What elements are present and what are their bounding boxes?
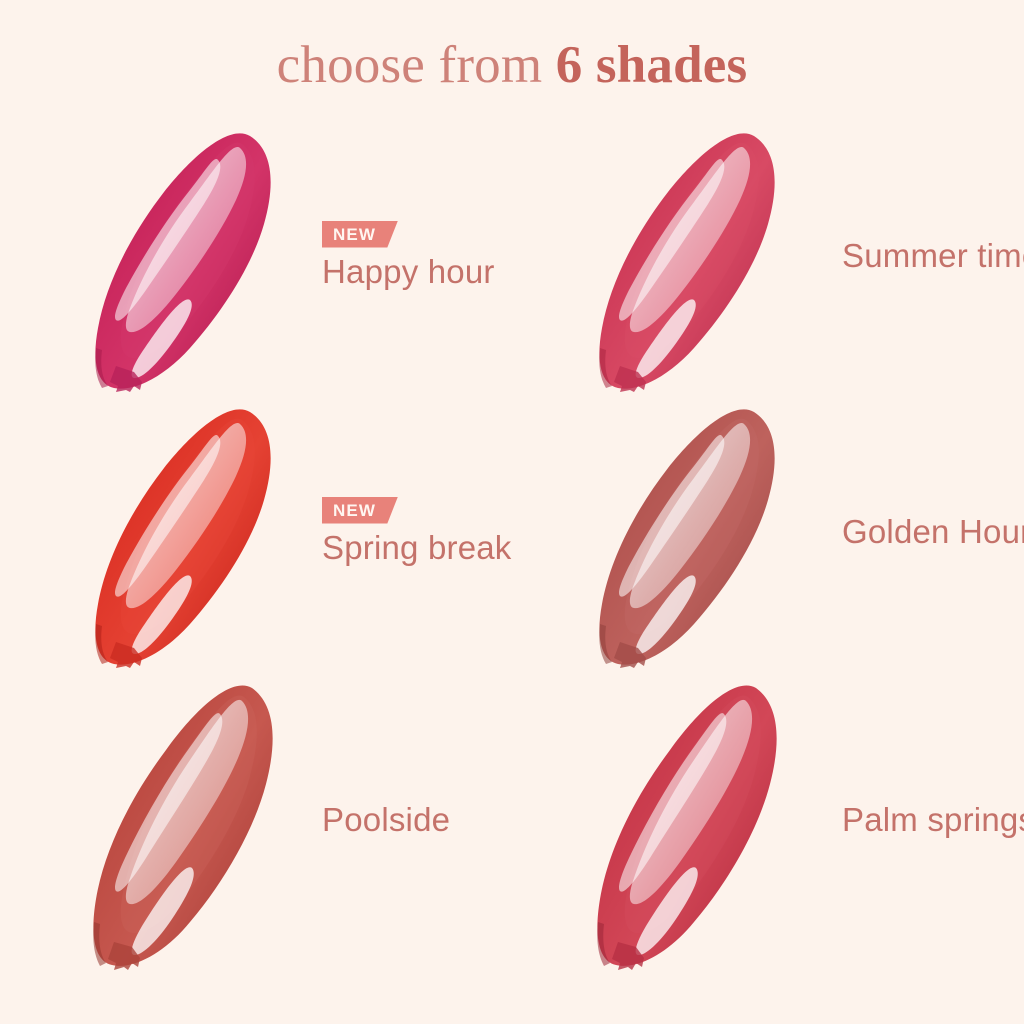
lipstick-swatch-icon	[576, 670, 808, 970]
lipstick-swatch-icon	[576, 396, 808, 668]
shade-card-golden-hour[interactable]: Golden Hour	[512, 394, 1024, 670]
lipstick-swatch-icon	[72, 670, 304, 970]
shade-card-poolside[interactable]: Poolside	[0, 670, 512, 970]
swatch-happy-hour[interactable]	[72, 120, 304, 392]
shade-name: Happy hour	[322, 252, 495, 292]
shade-card-palm-springs[interactable]: Palm springs	[512, 670, 1024, 970]
swatch-poolside[interactable]	[72, 670, 304, 970]
shade-grid: NEW Happy hour	[0, 118, 1024, 1018]
shade-name: Spring break	[322, 528, 512, 568]
shade-selector-page: choose from 6 shades	[0, 0, 1024, 1024]
label-block-happy-hour: NEW Happy hour	[322, 221, 495, 292]
new-badge: NEW	[322, 497, 398, 524]
label-block-spring-break: NEW Spring break	[322, 497, 512, 568]
page-title: choose from 6 shades	[0, 34, 1024, 96]
new-badge: NEW	[322, 221, 398, 248]
shade-name: Poolside	[322, 800, 450, 840]
shade-name: Palm springs	[842, 800, 1024, 840]
swatch-golden-hour[interactable]	[576, 396, 808, 668]
swatch-spring-break[interactable]	[72, 396, 304, 668]
swatch-summer-time[interactable]	[576, 120, 808, 392]
shade-card-happy-hour[interactable]: NEW Happy hour	[0, 118, 512, 394]
swatch-palm-springs[interactable]	[576, 670, 808, 970]
shade-name: Golden Hour	[842, 512, 1024, 552]
shade-name: Summer time	[842, 236, 1024, 276]
label-block-golden-hour: Golden Hour	[842, 512, 1024, 552]
label-block-summer-time: Summer time	[842, 236, 1024, 276]
lipstick-swatch-icon	[72, 120, 304, 392]
page-title-light: choose from	[277, 36, 556, 94]
label-block-palm-springs: Palm springs	[842, 800, 1024, 840]
lipstick-swatch-icon	[72, 396, 304, 668]
lipstick-swatch-icon	[576, 120, 808, 392]
page-title-bold: 6 shades	[556, 36, 748, 94]
shade-card-summer-time[interactable]: Summer time	[512, 118, 1024, 394]
shade-card-spring-break[interactable]: NEW Spring break	[0, 394, 512, 670]
label-block-poolside: Poolside	[322, 800, 450, 840]
